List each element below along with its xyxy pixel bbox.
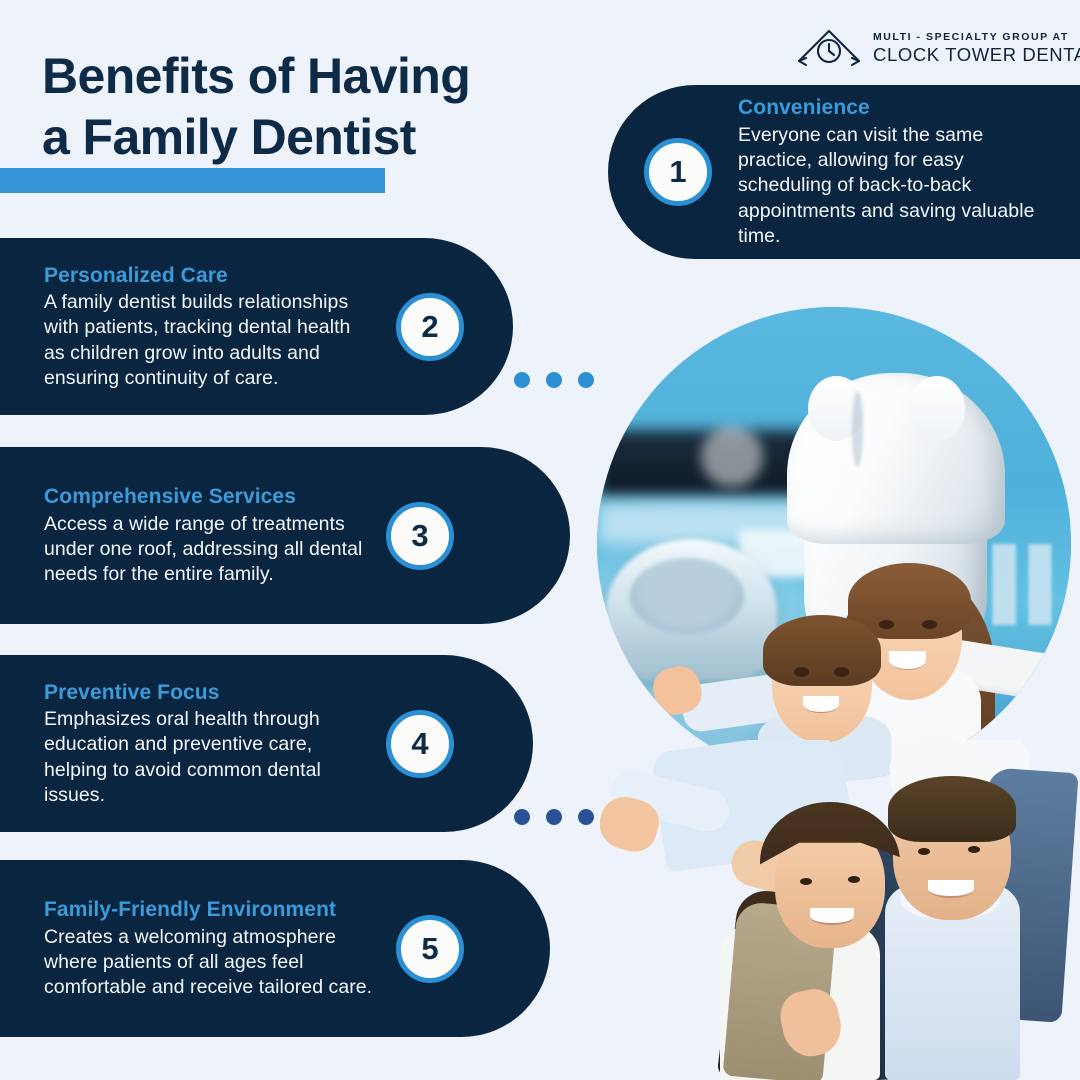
page-title: Benefits of Having a Family Dentist (42, 46, 470, 168)
benefit-card-5-body: Family-Friendly Environment Creates a we… (44, 896, 374, 1000)
family-foreground (600, 740, 1080, 1080)
benefit-card-5-heading: Family-Friendly Environment (44, 896, 374, 923)
dot (514, 809, 530, 825)
tooth-cusp (909, 376, 966, 441)
benefit-card-4-heading: Preventive Focus (44, 679, 364, 706)
benefit-card-2-body: Personalized Care A family dentist build… (44, 262, 374, 392)
benefit-card-1-heading: Convenience (738, 94, 1038, 121)
mother-eye (848, 876, 860, 883)
family-photo-circle (588, 298, 1080, 790)
photo-white-ring (588, 298, 1080, 790)
title-block: Benefits of Having a Family Dentist (42, 46, 470, 168)
mother-eye (800, 878, 812, 885)
boy-smile (803, 696, 839, 713)
badge-number-2: 2 (396, 293, 464, 361)
badge-number-5: 5 (396, 915, 464, 983)
benefit-card-4-text: Emphasizes oral health through education… (44, 707, 364, 808)
benefit-card-1-text: Everyone can visit the same practice, al… (738, 123, 1038, 250)
girl-smile (889, 651, 927, 670)
tooth-groove (852, 391, 863, 467)
benefit-card-3-body: Comprehensive Services Access a wide ran… (44, 483, 364, 587)
dental-basin-inner (630, 558, 744, 634)
benefit-card-4: Preventive Focus Emphasizes oral health … (0, 655, 533, 832)
dot (546, 809, 562, 825)
benefit-card-3: Comprehensive Services Access a wide ran… (0, 447, 570, 624)
benefit-card-5: Family-Friendly Environment Creates a we… (0, 860, 550, 1037)
benefit-card-2-text: A family dentist builds relationships wi… (44, 290, 374, 391)
benefit-card-5-text: Creates a welcoming atmosphere where pat… (44, 925, 374, 1001)
badge-number-3: 3 (386, 502, 454, 570)
brand-logo: MULTI - SPECIALTY GROUP AT CLOCK TOWER D… (795, 18, 1055, 78)
benefit-card-4-body: Preventive Focus Emphasizes oral health … (44, 679, 364, 809)
father-hair (888, 776, 1016, 842)
boy-eye (834, 667, 849, 676)
dot (514, 372, 530, 388)
badge-number-4: 4 (386, 710, 454, 778)
boy-hair (763, 615, 882, 686)
mother-smile (810, 908, 854, 925)
badge-number-1: 1 (644, 138, 712, 206)
clock-tower-icon (795, 25, 863, 71)
boy-eye (794, 667, 809, 676)
infographic-canvas: MULTI - SPECIALTY GROUP AT CLOCK TOWER D… (0, 0, 1080, 1080)
dot-separator-lower (514, 809, 594, 825)
benefit-card-3-heading: Comprehensive Services (44, 483, 364, 510)
benefit-card-3-text: Access a wide range of treatments under … (44, 512, 364, 588)
father-eye (968, 846, 980, 853)
logo-name: CLOCK TOWER DENTAL (873, 44, 1080, 65)
father-eye (918, 848, 930, 855)
logo-text: MULTI - SPECIALTY GROUP AT CLOCK TOWER D… (873, 31, 1080, 66)
benefit-card-2-heading: Personalized Care (44, 262, 374, 289)
father-smile (928, 880, 974, 898)
photo-content (597, 307, 1071, 781)
logo-tagline: MULTI - SPECIALTY GROUP AT (873, 31, 1080, 44)
benefit-card-1: 1 Convenience Everyone can visit the sam… (608, 85, 1080, 259)
benefit-card-1-body: Convenience Everyone can visit the same … (738, 94, 1038, 249)
dot (546, 372, 562, 388)
dot-separator-upper (514, 372, 594, 388)
title-accent-bar (0, 168, 385, 193)
dot (578, 809, 594, 825)
benefit-card-2: Personalized Care A family dentist build… (0, 238, 513, 415)
background-light-glow (701, 426, 763, 488)
